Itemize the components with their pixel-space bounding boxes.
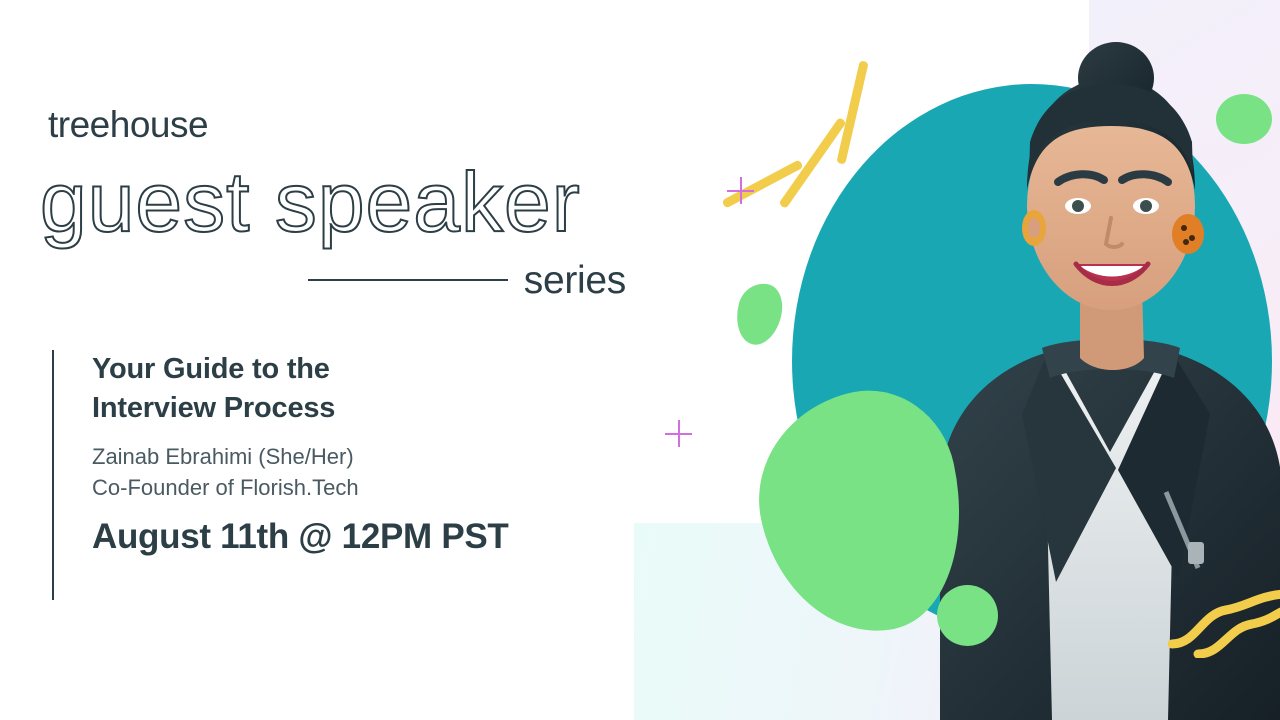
speaker-name: Zainab Ebrahimi (She/Her) xyxy=(92,441,652,472)
session-title: Your Guide to the Interview Process xyxy=(92,350,652,427)
speaker-details: Zainab Ebrahimi (She/Her) Co-Founder of … xyxy=(92,441,652,503)
sparkle-strokes-icon xyxy=(836,60,868,164)
series-divider xyxy=(308,279,508,281)
green-dot-shape xyxy=(1216,94,1272,144)
wordmark-text: treehouse xyxy=(48,106,208,143)
wavy-squiggle-icon xyxy=(1168,588,1280,658)
accent-vertical-rule xyxy=(52,350,54,600)
session-title-line-1: Your Guide to the xyxy=(92,350,652,389)
green-dot-shape xyxy=(937,585,998,646)
series-label-row: series xyxy=(308,256,626,304)
session-datetime: August 11th @ 12PM PST xyxy=(92,518,652,557)
plus-mark-icon xyxy=(665,420,692,447)
series-label: series xyxy=(524,261,626,300)
session-title-line-2: Interview Process xyxy=(92,389,652,428)
brand-wordmark: treehouse xyxy=(48,106,208,143)
page-title: guest speaker xyxy=(40,160,581,244)
slide-canvas: treehouse guest speaker series Your Guid… xyxy=(0,0,1280,720)
plus-mark-icon xyxy=(727,177,754,204)
green-blob-shape xyxy=(730,279,788,350)
sparkle-strokes-icon xyxy=(778,117,846,209)
speaker-role: Co-Founder of Florish.Tech xyxy=(92,472,652,503)
session-info-block: Your Guide to the Interview Process Zain… xyxy=(52,350,652,556)
